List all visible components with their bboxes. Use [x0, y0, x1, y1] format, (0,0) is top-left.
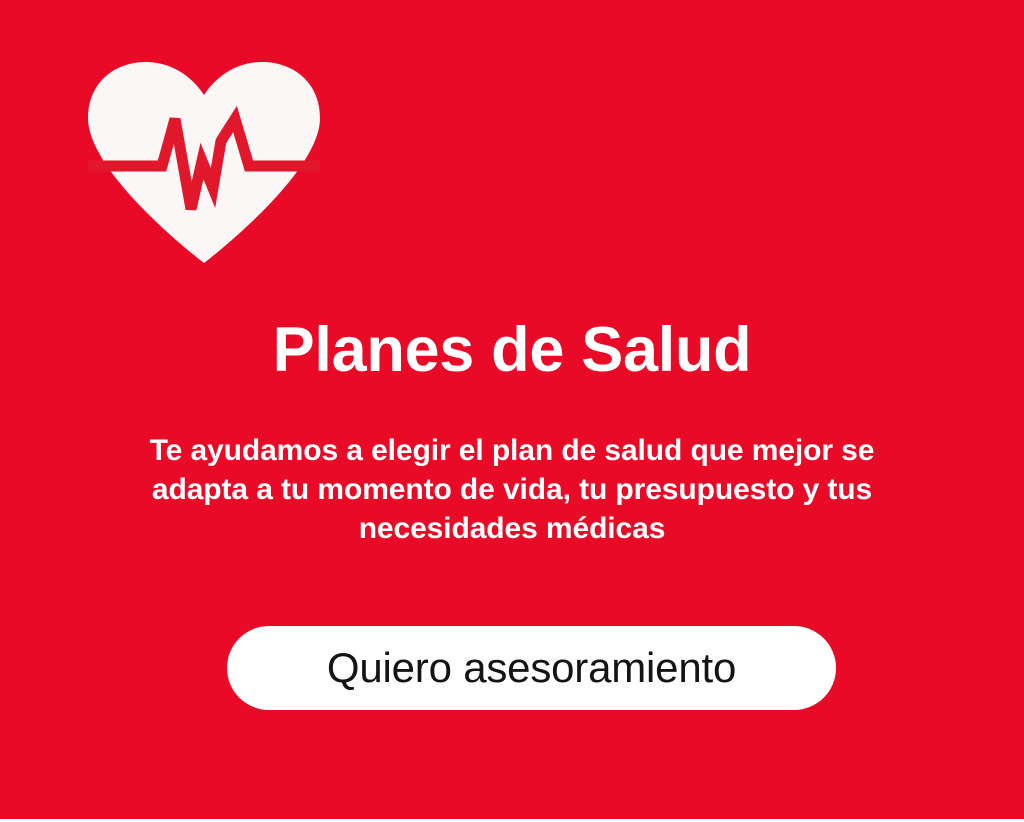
heart-pulse-icon	[88, 62, 320, 263]
page-title: Planes de Salud	[0, 312, 1024, 388]
health-plans-hero-banner: Planes de Salud Te ayudamos a elegir el …	[0, 0, 1024, 819]
request-advice-button[interactable]: Quiero asesoramiento	[227, 626, 836, 710]
hero-subtitle: Te ayudamos a elegir el plan de salud qu…	[112, 431, 912, 548]
